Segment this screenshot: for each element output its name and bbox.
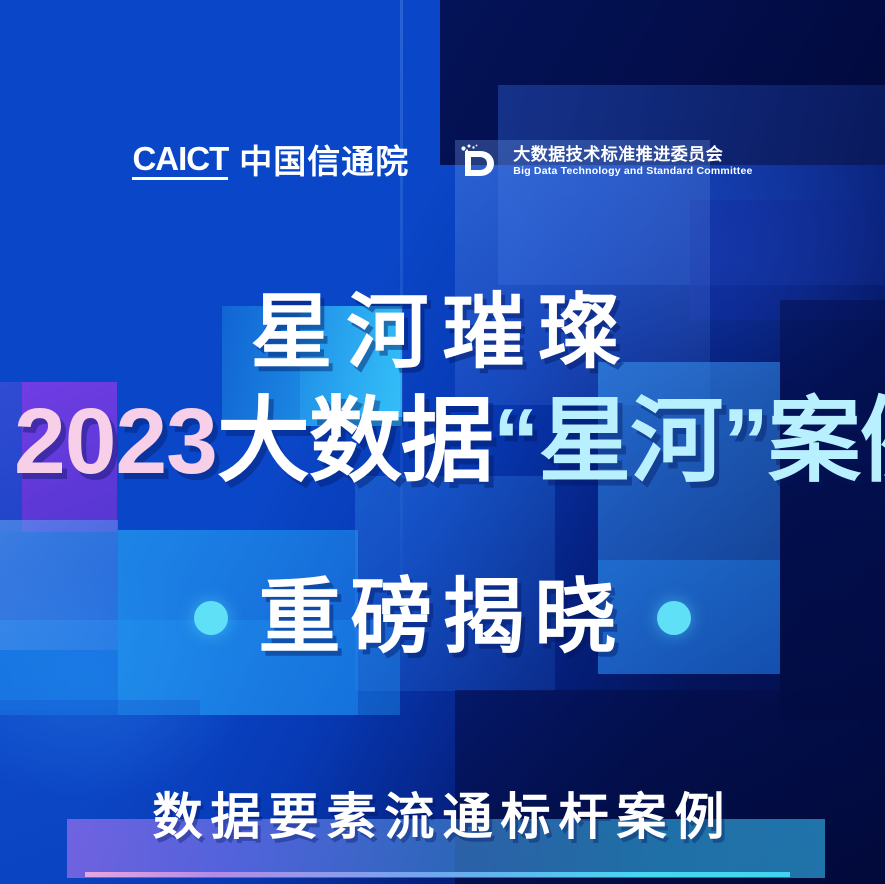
headline-tertiary: 重磅揭晓 <box>258 577 626 659</box>
caict-name-cn: 中国信通院 <box>239 145 409 178</box>
decorative-dot-right-icon <box>657 601 691 635</box>
headline-keyword: 星河 <box>538 389 722 493</box>
bdtsc-name-en: Big Data Technology and Standard Committ… <box>513 166 752 177</box>
headline-primary: 星河璀璨 <box>0 292 885 374</box>
decorative-dot-left-icon <box>194 601 228 635</box>
stylized-d-icon <box>455 138 501 184</box>
bdtsc-name-cn: 大数据技术标准推进委员会 <box>513 146 752 163</box>
headline-tertiary-row: 重磅揭晓 <box>0 565 885 670</box>
headline-case: 案例 <box>768 389 885 493</box>
footer-gradient-line <box>85 872 790 877</box>
bdtsc-text-block: 大数据技术标准推进委员会 Big Data Technology and Sta… <box>513 146 752 177</box>
headline-year: 2023 <box>14 389 217 493</box>
logo-row: CAICT 中国信通院 大数据技术标准推进委员会 Big Data Techno… <box>0 128 885 194</box>
caict-logo: CAICT 中国信通院 <box>132 142 409 180</box>
headline-secondary: 2023大数据“星河”案例 <box>0 395 885 488</box>
caict-wordmark-icon: CAICT <box>132 142 228 180</box>
bdtsc-logo: 大数据技术标准推进委员会 Big Data Technology and Sta… <box>455 138 752 184</box>
headline-quote-open: “ <box>493 389 539 493</box>
headline-bigdata: 大数据 <box>217 389 493 493</box>
poster-root: CAICT 中国信通院 大数据技术标准推进委员会 Big Data Techno… <box>0 0 885 884</box>
headline-quote-close: ” <box>722 389 768 493</box>
footer-band-text: 数据要素流通标杆案例 <box>0 792 885 842</box>
